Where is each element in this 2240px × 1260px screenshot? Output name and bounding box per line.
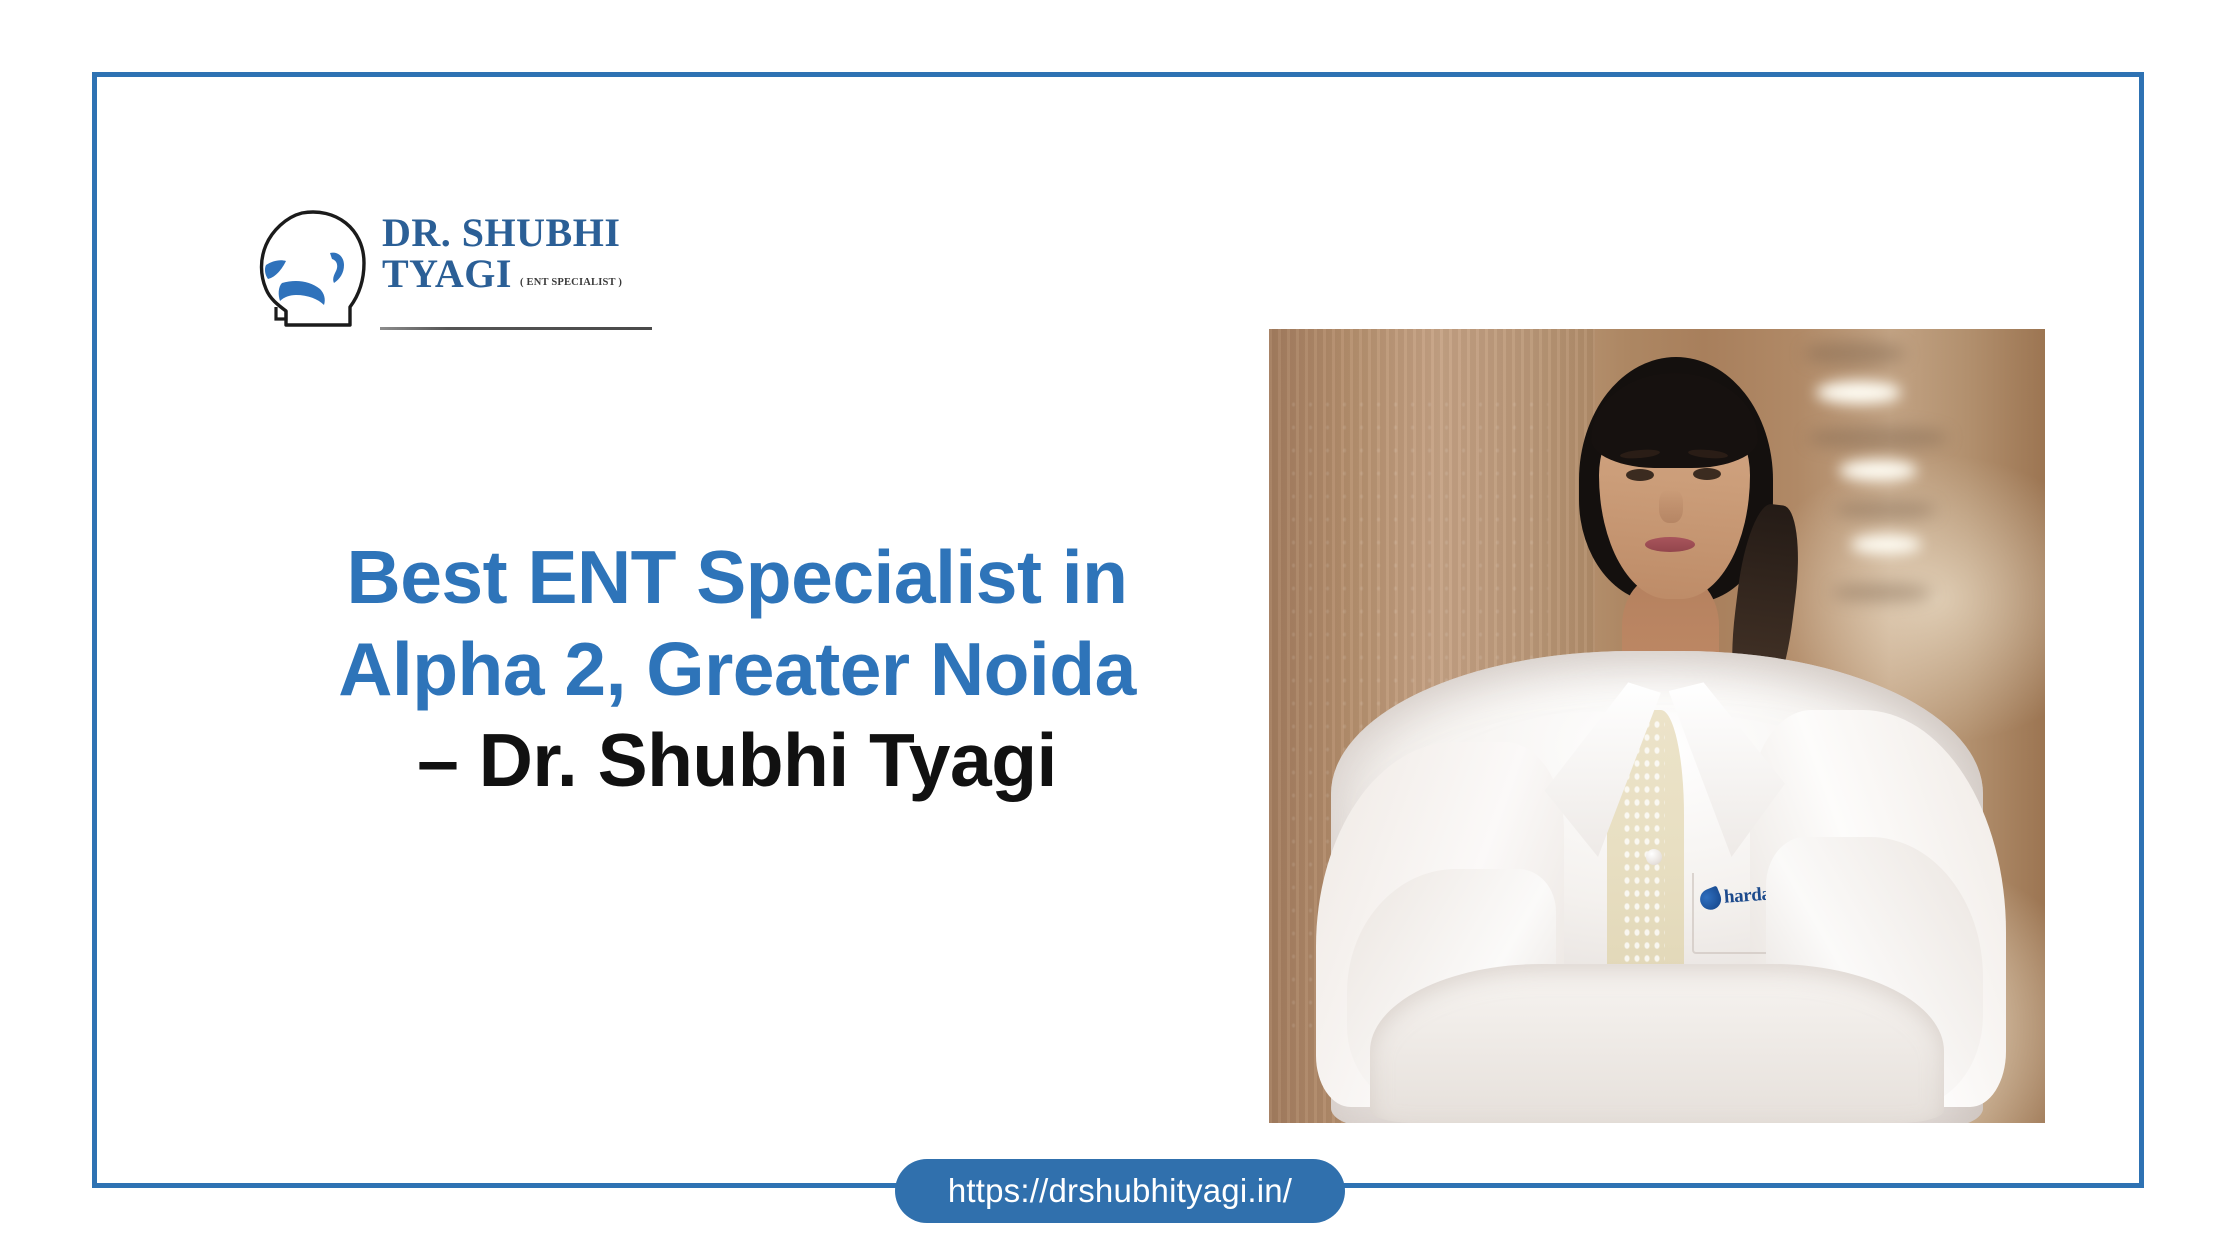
content-frame: DR. SHUBHI TYAGI ( ENT SPECIALIST ) Best…: [92, 72, 2144, 1188]
nose: [1659, 489, 1684, 522]
headline-block: Best ENT Specialist in Alpha 2, Greater …: [217, 532, 1257, 807]
headline-line-2: Alpha 2, Greater Noida: [217, 624, 1257, 716]
logo-underline-rule: [380, 327, 652, 330]
logo-wordmark: DR. SHUBHI TYAGI ( ENT SPECIALIST ): [382, 213, 650, 295]
head-profile-ent-icon: [252, 207, 382, 332]
page-canvas: DR. SHUBHI TYAGI ( ENT SPECIALIST ) Best…: [0, 0, 2240, 1260]
doctor-figure: harda: [1269, 329, 2045, 1123]
brand-logo[interactable]: DR. SHUBHI TYAGI ( ENT SPECIALIST ): [252, 207, 652, 342]
logo-specialty-tag: ( ENT SPECIALIST ): [520, 278, 622, 295]
logo-name-line1: DR. SHUBHI: [382, 213, 650, 254]
sharda-mark-icon: [1697, 885, 1724, 912]
website-url-text: https://drshubhityagi.in/: [948, 1172, 1292, 1210]
coat-badge-word: harda: [1723, 884, 1771, 909]
doctor-photo: harda: [1269, 329, 2045, 1123]
crossed-arms: [1370, 964, 1944, 1123]
eye-right: [1693, 468, 1721, 480]
headline-line-1: Best ENT Specialist in: [217, 532, 1257, 624]
eye-left: [1626, 469, 1654, 481]
lips: [1645, 537, 1695, 552]
headline-line-3: – Dr. Shubhi Tyagi: [217, 715, 1257, 807]
website-url-pill[interactable]: https://drshubhityagi.in/: [895, 1159, 1345, 1223]
logo-name-line2: TYAGI: [382, 254, 512, 295]
